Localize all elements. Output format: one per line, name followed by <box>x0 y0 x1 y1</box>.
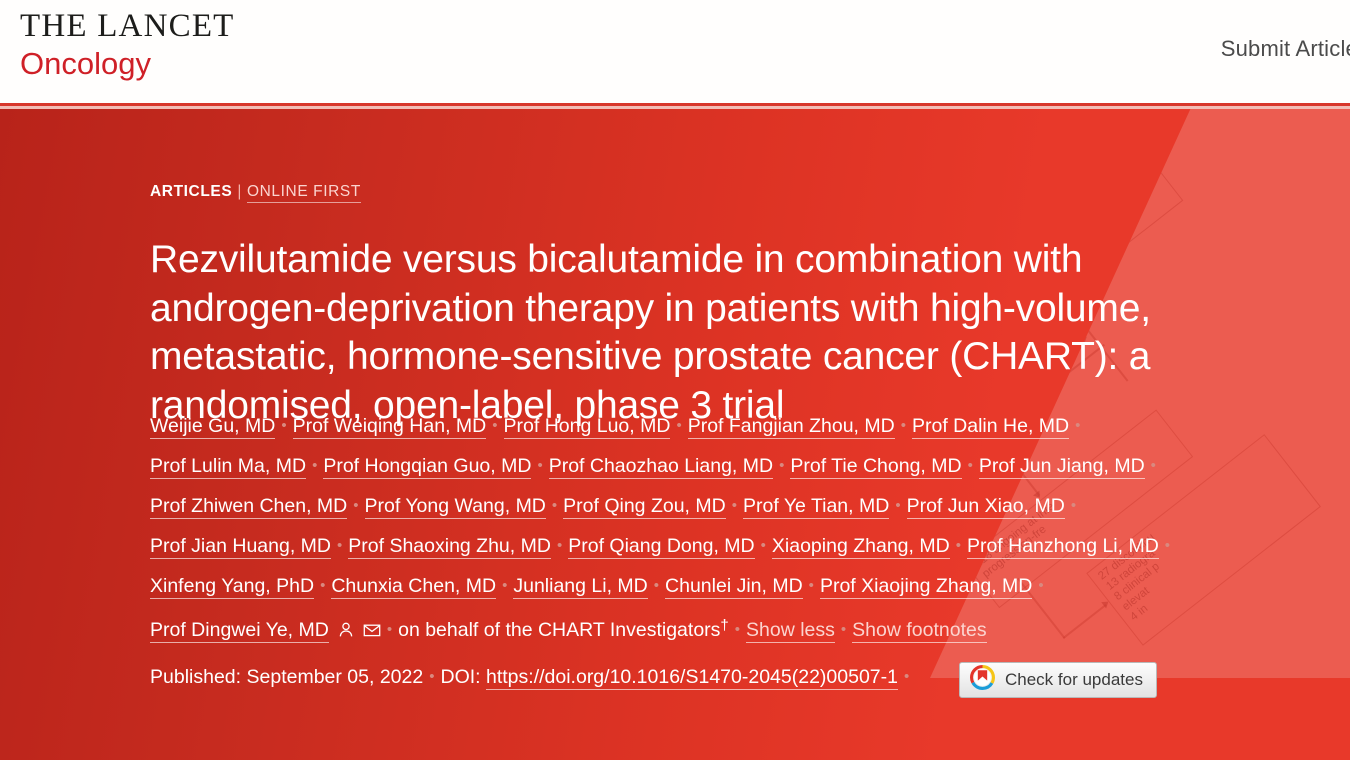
author-link[interactable]: Chunlei Jin, MD <box>665 575 803 599</box>
author-link[interactable]: Prof Hong Luo, MD <box>504 415 671 439</box>
submit-article-link[interactable]: Submit Article <box>1221 36 1350 62</box>
author-link[interactable]: Prof Fangjian Zhou, MD <box>688 415 895 439</box>
author-link[interactable]: Prof Hongqian Guo, MD <box>323 455 531 479</box>
author-link[interactable]: Prof Jun Jiang, MD <box>979 455 1145 479</box>
author-link[interactable]: Prof Qiang Dong, MD <box>568 535 754 559</box>
logo-oncology: Oncology <box>20 46 235 82</box>
published-label: Published: <box>150 666 241 688</box>
check-for-updates-label: Check for updates <box>1005 670 1143 690</box>
author-separator: • <box>281 406 286 445</box>
author-separator: • <box>337 526 342 565</box>
person-icon[interactable] <box>337 621 355 639</box>
author-link[interactable]: Junliang Li, MD <box>513 575 647 599</box>
metadata-separator: • <box>904 664 909 690</box>
article-kicker: ARTICLES|ONLINE FIRST <box>150 183 361 201</box>
author-separator: • <box>654 566 659 605</box>
page-title: Rezvilutamide versus bicalutamide in com… <box>150 236 1255 430</box>
group-authorship-label: on behalf of the CHART Investigators <box>398 619 720 641</box>
published-date: September 05, 2022 <box>247 666 424 688</box>
author-separator: • <box>1038 566 1043 605</box>
author-separator: • <box>956 526 961 565</box>
author-separator: • <box>1151 446 1156 485</box>
author-separator: • <box>735 610 740 649</box>
author-link[interactable]: Prof Dingwei Ye, MD <box>150 619 329 643</box>
kicker-section-label[interactable]: ARTICLES <box>150 183 232 200</box>
author-link[interactable]: Prof Xiaojing Zhang, MD <box>820 575 1032 599</box>
author-link[interactable]: Weijie Gu, MD <box>150 415 275 439</box>
author-link[interactable]: Chunxia Chen, MD <box>331 575 496 599</box>
group-authorship-marker[interactable]: † <box>720 617 728 634</box>
author-separator: • <box>1165 526 1170 565</box>
author-separator: • <box>895 486 900 525</box>
author-link[interactable]: Prof Qing Zou, MD <box>563 495 726 519</box>
metadata-separator: • <box>429 664 434 690</box>
check-for-updates-button[interactable]: Check for updates <box>959 662 1157 698</box>
publication-metadata: Published: September 05, 2022•DOI: https… <box>150 664 915 690</box>
kicker-status-label[interactable]: ONLINE FIRST <box>247 183 361 203</box>
author-separator: • <box>537 446 542 485</box>
author-link[interactable]: Prof Chaozhao Liang, MD <box>549 455 773 479</box>
author-separator: • <box>841 610 846 649</box>
author-link[interactable]: Prof Weiqing Han, MD <box>293 415 487 439</box>
author-separator: • <box>320 566 325 605</box>
author-separator: • <box>353 486 358 525</box>
author-separator: • <box>1071 486 1076 525</box>
article-hero-banner: 3 218 ongoing at inte progression-fre 27… <box>0 109 1350 760</box>
author-separator: • <box>761 526 766 565</box>
author-separator: • <box>1075 406 1080 445</box>
author-list: Weijie Gu, MD•Prof Weiqing Han, MD•Prof … <box>150 406 1225 650</box>
author-separator: • <box>779 446 784 485</box>
author-link[interactable]: Prof Jun Xiao, MD <box>907 495 1065 519</box>
author-link[interactable]: Prof Yong Wang, MD <box>365 495 546 519</box>
doi-label: DOI: <box>440 666 480 688</box>
show-less-link[interactable]: Show less <box>746 619 835 643</box>
author-separator: • <box>557 526 562 565</box>
site-masthead: THE LANCET Oncology Submit Article <box>0 0 1350 103</box>
author-link[interactable]: Prof Zhiwen Chen, MD <box>150 495 347 519</box>
crossmark-icon <box>970 665 995 695</box>
author-link[interactable]: Prof Hanzhong Li, MD <box>967 535 1159 559</box>
author-link[interactable]: Prof Ye Tian, MD <box>743 495 889 519</box>
author-link[interactable]: Xinfeng Yang, PhD <box>150 575 314 599</box>
author-separator: • <box>968 446 973 485</box>
author-separator: • <box>676 406 681 445</box>
author-link[interactable]: Prof Dalin He, MD <box>912 415 1069 439</box>
author-separator: • <box>387 610 392 649</box>
envelope-icon[interactable] <box>363 621 381 639</box>
author-separator: • <box>732 486 737 525</box>
author-separator: • <box>502 566 507 605</box>
author-link[interactable]: Prof Shaoxing Zhu, MD <box>348 535 551 559</box>
author-separator: • <box>901 406 906 445</box>
article-landing-page: THE LANCET Oncology Submit Article 3 218… <box>0 0 1350 760</box>
author-separator: • <box>809 566 814 605</box>
show-footnotes-link[interactable]: Show footnotes <box>852 619 986 643</box>
kicker-divider: | <box>237 183 242 200</box>
author-link[interactable]: Prof Jian Huang, MD <box>150 535 331 559</box>
logo-the-lancet: THE LANCET <box>20 8 235 44</box>
author-link[interactable]: Xiaoping Zhang, MD <box>772 535 950 559</box>
author-link[interactable]: Prof Tie Chong, MD <box>790 455 961 479</box>
author-separator: • <box>552 486 557 525</box>
author-separator: • <box>492 406 497 445</box>
lancet-oncology-logo[interactable]: THE LANCET Oncology <box>20 8 235 82</box>
doi-link[interactable]: https://doi.org/10.1016/S1470-2045(22)00… <box>486 666 898 690</box>
author-link[interactable]: Prof Lulin Ma, MD <box>150 455 306 479</box>
author-separator: • <box>312 446 317 485</box>
